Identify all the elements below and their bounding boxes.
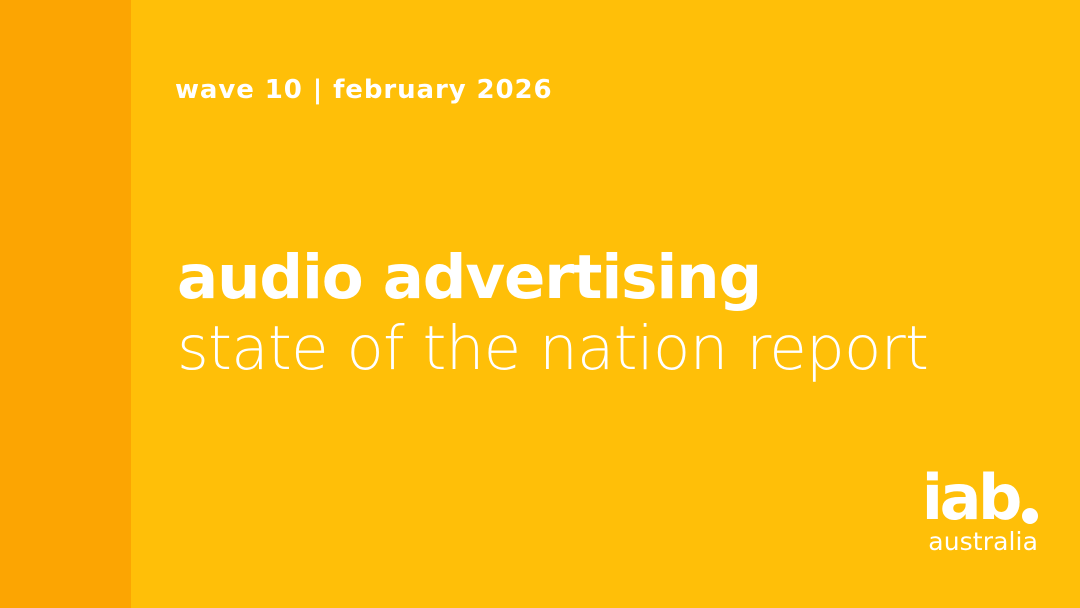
- title-block: audio advertising state of the nation re…: [177, 243, 1037, 385]
- page-title: audio advertising: [177, 243, 1037, 313]
- slide-canvas: wave 10 | february 2026 audio advertisin…: [131, 0, 1080, 608]
- logo-subtext-australia: australia: [922, 528, 1038, 556]
- logo-dot-icon: [1022, 508, 1038, 524]
- iab-australia-logo: iab australia: [922, 469, 1038, 556]
- logo-mark: iab: [922, 469, 1038, 527]
- page-subtitle: state of the nation report: [177, 313, 1037, 385]
- iab-wordmark: iab: [922, 469, 1019, 527]
- left-accent-stripe: [0, 0, 131, 608]
- title-slide: wave 10 | february 2026 audio advertisin…: [0, 0, 1080, 608]
- wave-date-eyebrow: wave 10 | february 2026: [175, 74, 553, 106]
